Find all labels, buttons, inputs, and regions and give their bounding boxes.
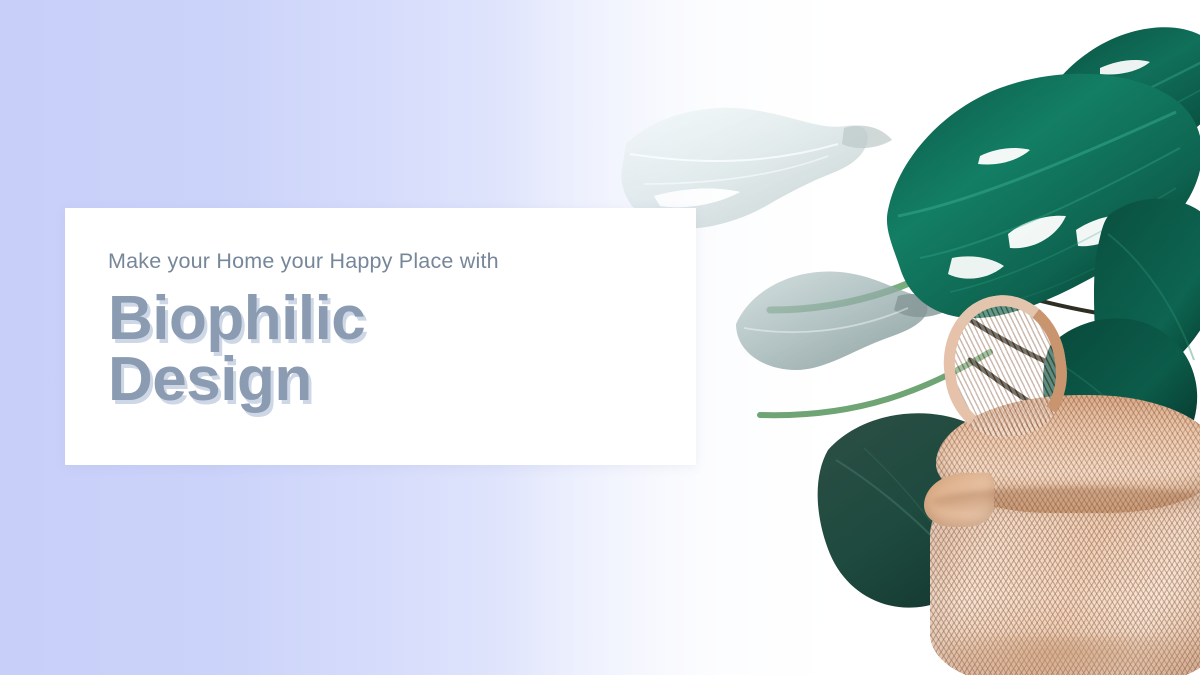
text-card: Make your Home your Happy Place with Bio…: [65, 208, 696, 465]
plant-stem: [700, 60, 1200, 580]
basket-rim: [936, 395, 1200, 513]
basket-rim-fold-shadow: [932, 487, 1200, 517]
basket-floor-shadow: [940, 636, 1200, 675]
basket-body: [930, 453, 1200, 675]
rope-handle: [935, 287, 1076, 445]
basket-rim-point: [924, 473, 994, 527]
dark-leaf-center: [808, 398, 1038, 618]
dark-leaf-lower-right: [1040, 300, 1200, 490]
dark-leaf-top: [1000, 10, 1200, 210]
dark-leaf-main: [880, 52, 1200, 352]
woven-basket: [930, 395, 1200, 675]
basket-rim-weave: [936, 395, 1200, 513]
basket-weave-texture: [930, 453, 1200, 675]
slide-canvas: Make your Home your Happy Place with Bio…: [0, 0, 1200, 675]
rope-handle-highlight: [935, 287, 1076, 445]
eyebrow-text: Make your Home your Happy Place with: [108, 248, 668, 275]
pale-leaf-lower-left: [730, 258, 960, 418]
page-title: Biophilic Design: [108, 289, 668, 411]
dark-leaf-right: [1090, 180, 1200, 400]
basket-weave-highlight: [930, 453, 1200, 675]
text-card-content: Make your Home your Happy Place with Bio…: [108, 248, 668, 410]
